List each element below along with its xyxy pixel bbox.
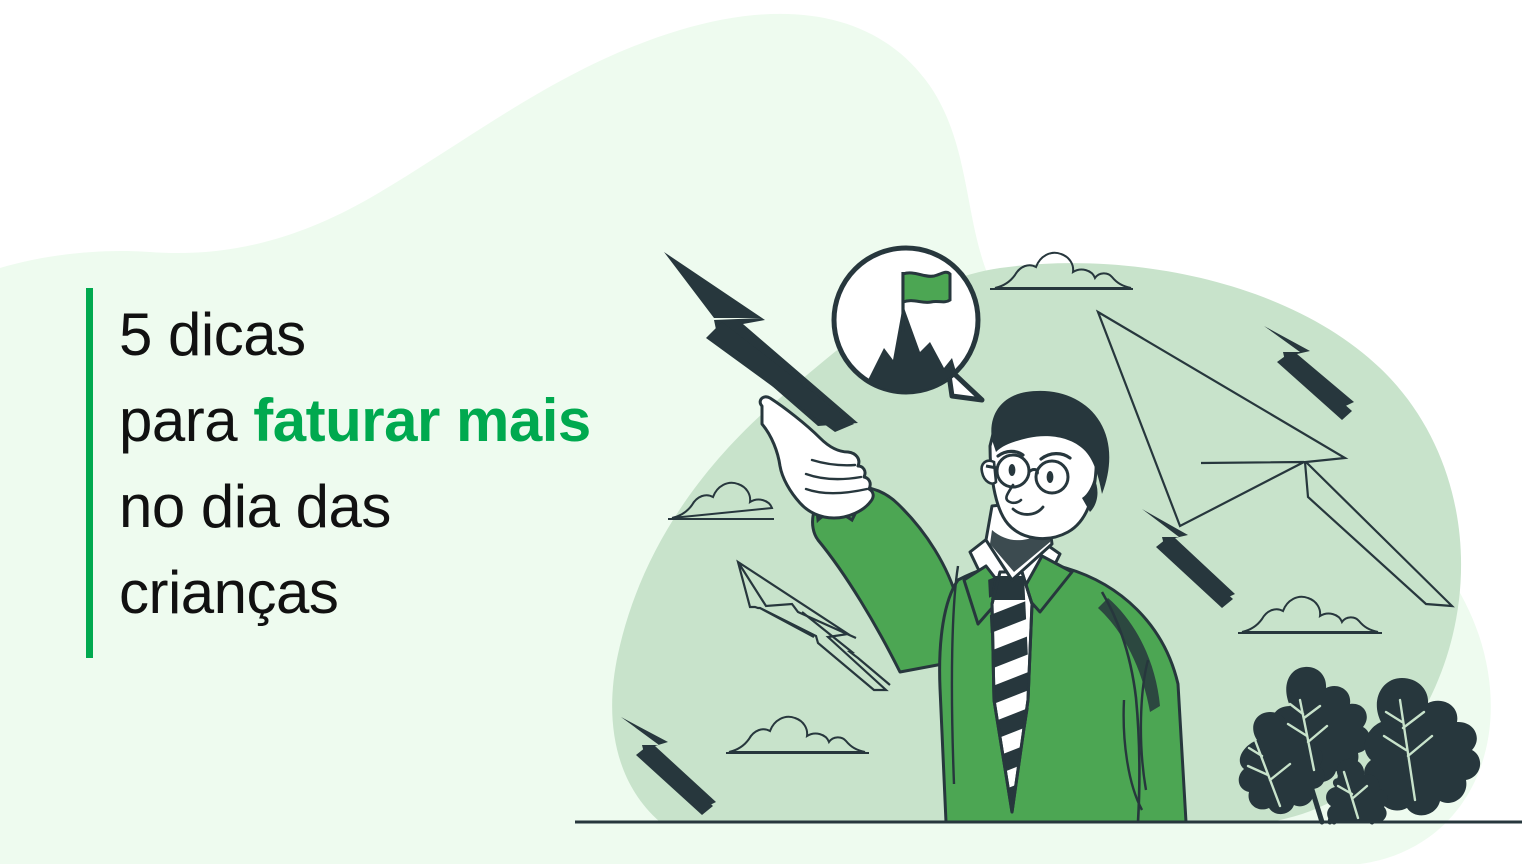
outline-arrow-long-right <box>1098 312 1452 606</box>
man-ear <box>982 461 996 484</box>
headline-line-4: crianças <box>119 550 591 636</box>
solid-arrow-bottom-left-shaft <box>636 747 713 815</box>
round-eyeglasses-temple <box>986 466 997 468</box>
solid-arrow-mid-right-shaft <box>1156 539 1233 608</box>
headline-line-3-text: no dia das <box>119 473 391 540</box>
headline-line-2-prefix: para <box>119 387 253 454</box>
headline-line-2-emphasis: faturar mais <box>253 387 590 454</box>
headline-line-1-text: 5 dicas <box>119 301 306 368</box>
headline-line-1: 5 dicas <box>119 292 591 378</box>
solid-arrow-upper-right <box>1264 326 1354 410</box>
cloud-bottom-center <box>729 717 865 752</box>
headline-line-3: no dia das <box>119 464 591 550</box>
man-eye-left <box>1009 464 1016 476</box>
oak-leaf-plants <box>1239 667 1480 823</box>
promo-banner: 5 dicas para faturar mais no dia das cri… <box>0 0 1536 864</box>
man-eye-right <box>1047 471 1054 483</box>
headline-line-4-text: crianças <box>119 559 338 626</box>
headline-text: 5 dicas para faturar mais no dia das cri… <box>93 288 591 658</box>
summit-flag <box>903 272 950 302</box>
solid-arrow-upper-right-shaft <box>1277 354 1352 420</box>
cloud-bottom-right <box>1242 597 1378 632</box>
headline-block: 5 dicas para faturar mais no dia das cri… <box>86 288 766 658</box>
cloud-top-right <box>995 253 1131 288</box>
headline-line-2: para faturar mais <box>119 378 591 464</box>
solid-arrow-bottom-left <box>621 717 716 810</box>
green-accent-bar <box>86 288 93 658</box>
